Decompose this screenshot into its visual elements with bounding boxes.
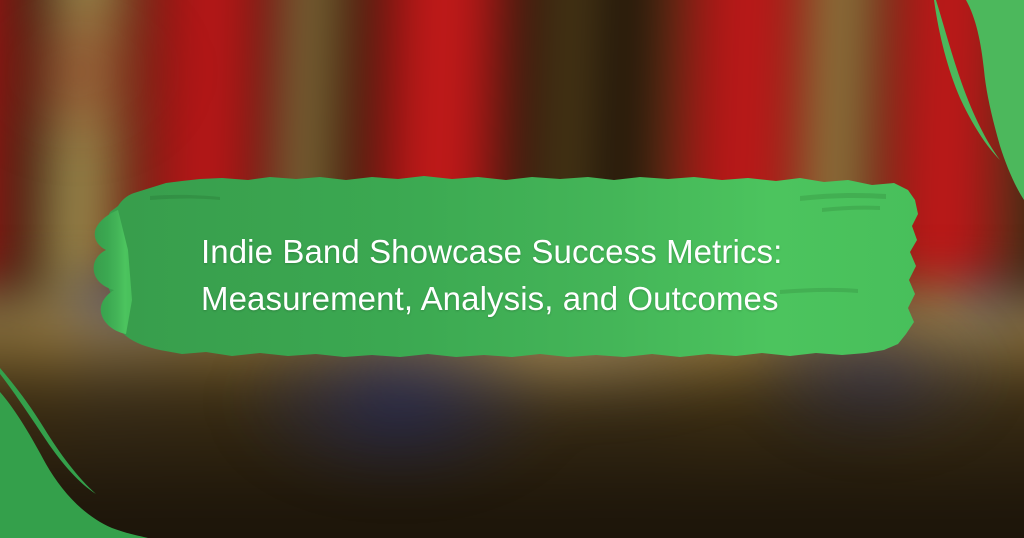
page-title: Indie Band Showcase Success Metrics: Mea… (201, 228, 901, 322)
banner-card: Indie Band Showcase Success Metrics: Mea… (0, 0, 1024, 538)
